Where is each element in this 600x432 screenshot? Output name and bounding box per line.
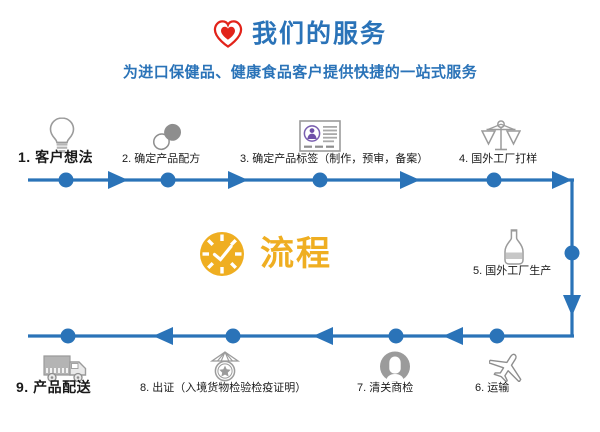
person-icon bbox=[378, 350, 412, 383]
id-card-icon bbox=[299, 120, 341, 152]
step-label-7: 7. 清关商检 bbox=[357, 382, 413, 394]
step-label-9: 9. 产品配送 bbox=[16, 380, 91, 395]
step-label-1: 1. 客户想法 bbox=[18, 150, 93, 165]
flow-arrow-down bbox=[563, 295, 581, 316]
capsule-icon bbox=[149, 122, 185, 152]
bottle-icon bbox=[500, 228, 528, 266]
flow-arrow-left bbox=[153, 327, 173, 345]
center-logo: 流程 bbox=[196, 228, 332, 280]
flow-arrow-left bbox=[443, 327, 463, 345]
flow-arrow-right bbox=[228, 171, 248, 189]
flow-arrow-right bbox=[552, 171, 572, 189]
medal-icon bbox=[208, 350, 242, 383]
flow-dot bbox=[61, 329, 76, 344]
flow-dot bbox=[161, 173, 176, 188]
scales-icon bbox=[481, 120, 521, 152]
step-label-2: 2. 确定产品配方 bbox=[122, 153, 200, 165]
step-label-8: 8. 出证（入境货物检验检疫证明） bbox=[140, 382, 306, 394]
step-label-6: 6. 运输 bbox=[475, 382, 509, 394]
flow-dot bbox=[59, 173, 74, 188]
flow-dot bbox=[313, 173, 328, 188]
step-label-4: 4. 国外工厂打样 bbox=[459, 153, 537, 165]
step-label-5: 5. 国外工厂生产 bbox=[473, 265, 551, 277]
step-label-3: 3. 确定产品标签（制作，预审，备案） bbox=[240, 153, 428, 165]
flow-arrow-right bbox=[400, 171, 420, 189]
flow-dot bbox=[389, 329, 404, 344]
center-logo-text: 流程 bbox=[260, 237, 332, 271]
flow-arrow-right bbox=[108, 171, 128, 189]
flow-dot bbox=[487, 173, 502, 188]
infographic-canvas: 我们的服务 为进口保健品、健康食品客户提供快捷的一站式服务 bbox=[0, 0, 600, 432]
flow-arrow-left bbox=[313, 327, 333, 345]
airplane-icon bbox=[489, 352, 529, 382]
clock-icon bbox=[196, 228, 248, 280]
flow-dot bbox=[565, 246, 580, 261]
flow-dot bbox=[490, 329, 505, 344]
flow-dot bbox=[226, 329, 241, 344]
